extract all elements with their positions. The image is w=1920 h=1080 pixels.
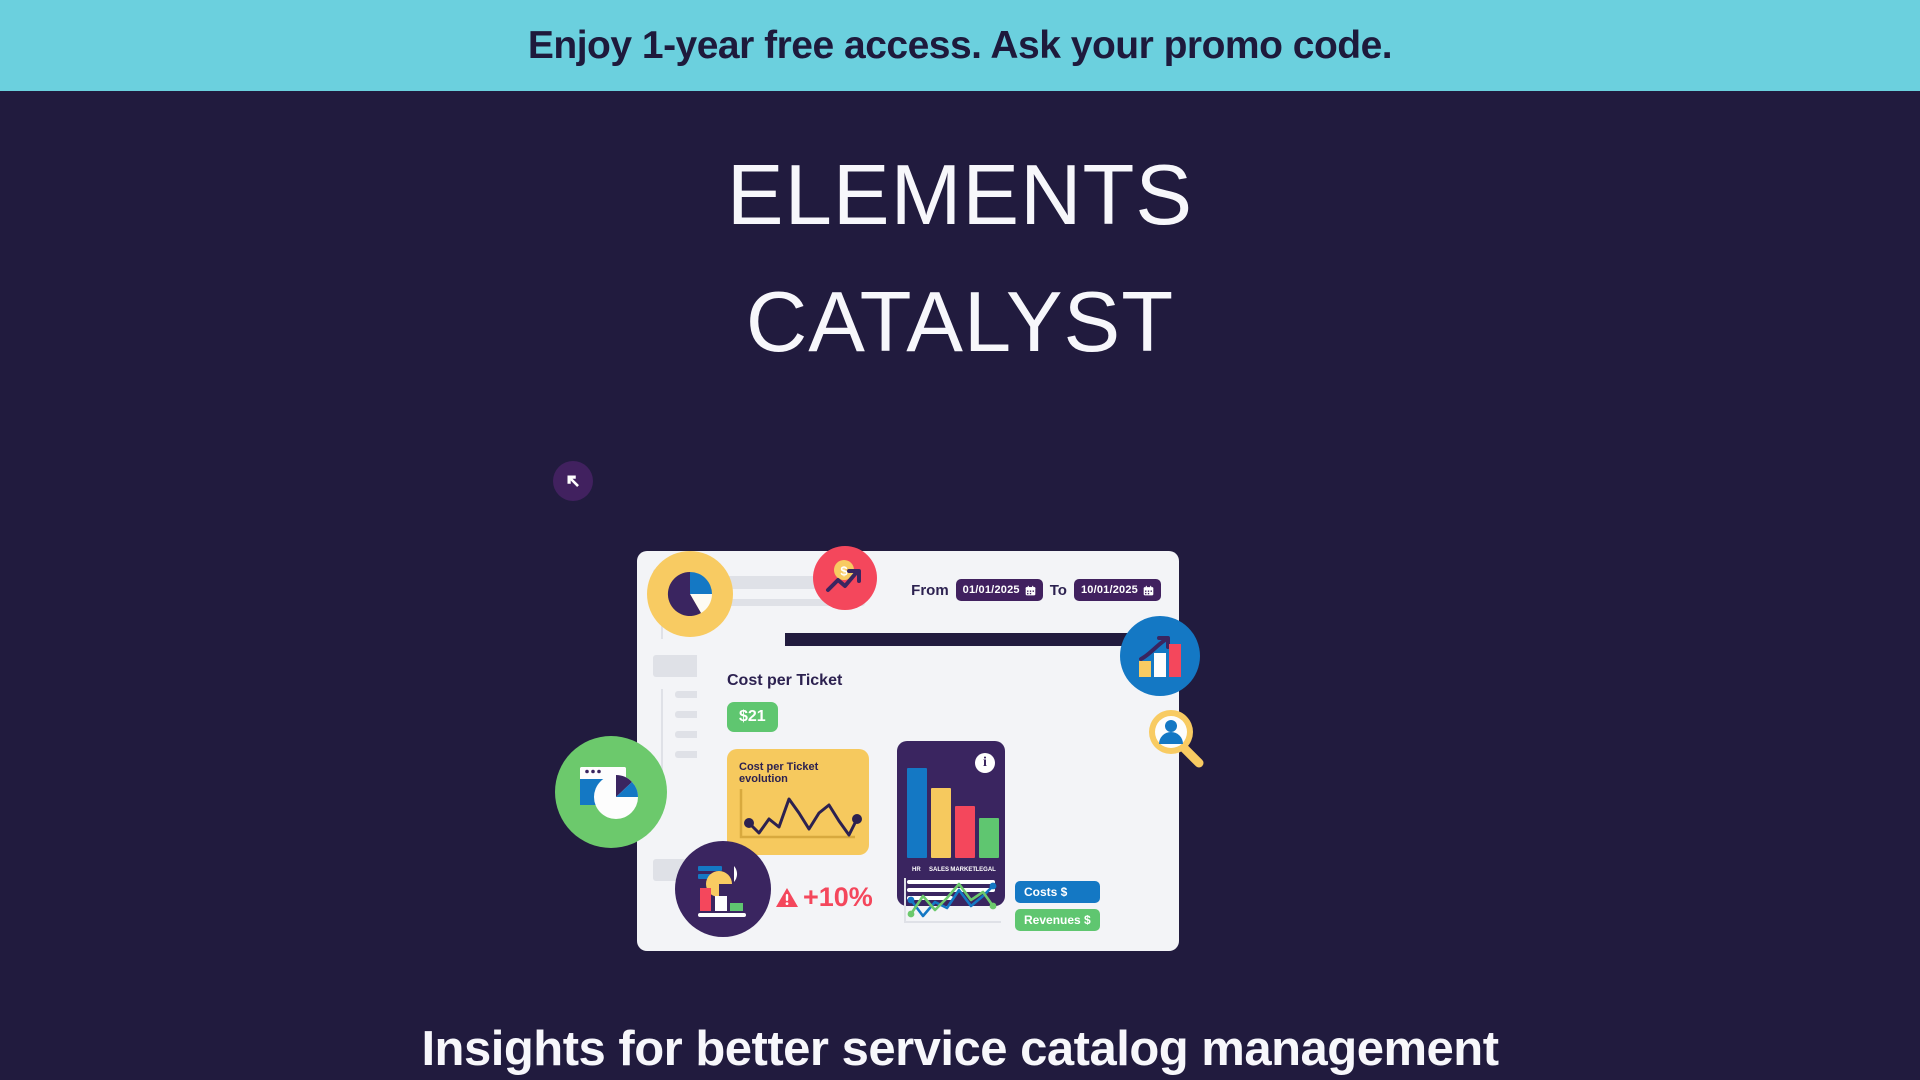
browser-pie-chart-glyph — [574, 755, 648, 829]
cost-per-ticket-title: Cost per Ticket — [727, 672, 842, 690]
user-search-glyph — [1145, 706, 1211, 772]
skeleton-rule — [661, 689, 663, 771]
bar-hr — [907, 768, 927, 858]
cost-per-ticket-evolution-title: Cost per Ticket evolution — [739, 761, 869, 785]
mixed-chart-glyph — [692, 858, 754, 920]
date-to-input[interactable]: 10/01/2025 — [1074, 579, 1161, 601]
brand-name-line-1: ELEMENTS — [727, 153, 1193, 238]
dashboard-body-panel: Cost per Ticket $21 Cost per Ticket evol… — [697, 646, 1179, 951]
growth-bars-icon[interactable] — [1120, 616, 1200, 696]
bar-label-legal: LEGAL — [974, 867, 997, 873]
variation-value: +10% — [803, 882, 873, 913]
mixed-chart-icon[interactable] — [675, 841, 771, 937]
bar-market — [955, 806, 975, 858]
calendar-icon — [1143, 585, 1154, 596]
date-from-value: 01/01/2025 — [963, 584, 1020, 596]
arrow-up-left-glyph — [562, 470, 584, 492]
brand-name-line-2: CATALYST — [746, 280, 1174, 365]
cost-per-ticket-evolution-card: Cost per Ticket evolution — [727, 749, 869, 855]
legend-item-costs[interactable]: Costs $ — [1015, 881, 1100, 903]
variation-indicator: +10% — [775, 882, 873, 913]
arrow-up-left-icon[interactable] — [553, 461, 593, 501]
calendar-icon — [1025, 585, 1036, 596]
pie-chart-icon[interactable] — [647, 551, 733, 637]
bar-sales — [931, 788, 951, 858]
promo-banner: Enjoy 1-year free access. Ask your promo… — [0, 0, 1920, 91]
date-to-label: To — [1050, 582, 1067, 599]
coin-growth-icon[interactable]: $ — [813, 546, 877, 610]
promo-banner-text: Enjoy 1-year free access. Ask your promo… — [528, 24, 1392, 68]
cost-per-ticket-value: $21 — [727, 702, 778, 732]
user-search-icon[interactable] — [1145, 706, 1211, 772]
bar-legal — [979, 818, 999, 858]
bar-label-hr: HR — [905, 867, 928, 873]
chart-legend: Costs $ Revenues $ — [1015, 881, 1100, 931]
bar-chart-labels: HR SALES MARKET LEGAL — [905, 867, 997, 873]
costs-revenues-line-chart — [897, 876, 1005, 928]
dashboard-header-panel: From 01/01/2025 To — [697, 551, 1179, 633]
growth-bars-glyph — [1135, 631, 1185, 681]
date-from-input[interactable]: 01/01/2025 — [956, 579, 1043, 601]
dashboard-illustration: From 01/01/2025 To — [575, 496, 1355, 996]
bar-label-sales: SALES — [928, 867, 951, 873]
line-chart-sparkline — [727, 783, 869, 853]
hero-section: ELEMENTS CATALYST From 01/01/2025 — [0, 91, 1920, 1080]
hero-tagline: Insights for better service catalog mana… — [0, 1021, 1920, 1077]
warning-triangle-icon — [775, 887, 799, 909]
bar-chart-bars — [907, 768, 999, 858]
legend-item-revenues[interactable]: Revenues $ — [1015, 909, 1100, 931]
pie-chart-glyph — [663, 567, 717, 621]
date-to-value: 10/01/2025 — [1081, 584, 1138, 596]
date-range-filter[interactable]: From 01/01/2025 To — [911, 579, 1161, 601]
bar-label-market: MARKET — [950, 867, 974, 873]
date-from-label: From — [911, 582, 949, 599]
browser-pie-chart-icon[interactable] — [555, 736, 667, 848]
coin-growth-glyph: $ — [823, 556, 867, 600]
